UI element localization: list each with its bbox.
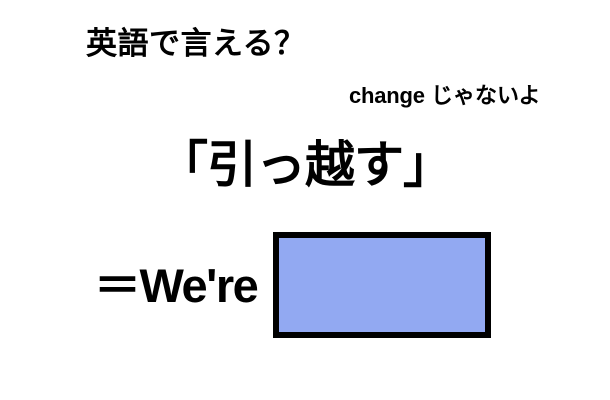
- answer-blank-box: [273, 232, 491, 338]
- quiz-card: 英語で言える？ change じゃないよ 「引っ越す」 ＝We're: [0, 0, 610, 400]
- answer-row: ＝We're: [94, 232, 491, 338]
- hint-latin-word: change: [349, 83, 425, 108]
- answer-prefix: ＝We're: [94, 262, 257, 309]
- hint-kana-tail: じゃないよ: [431, 83, 541, 108]
- japanese-phrase: 「引っ越す」: [158, 140, 452, 190]
- prompt-heading: 英語で言える？: [86, 28, 306, 59]
- hint-note: change じゃないよ: [349, 85, 541, 107]
